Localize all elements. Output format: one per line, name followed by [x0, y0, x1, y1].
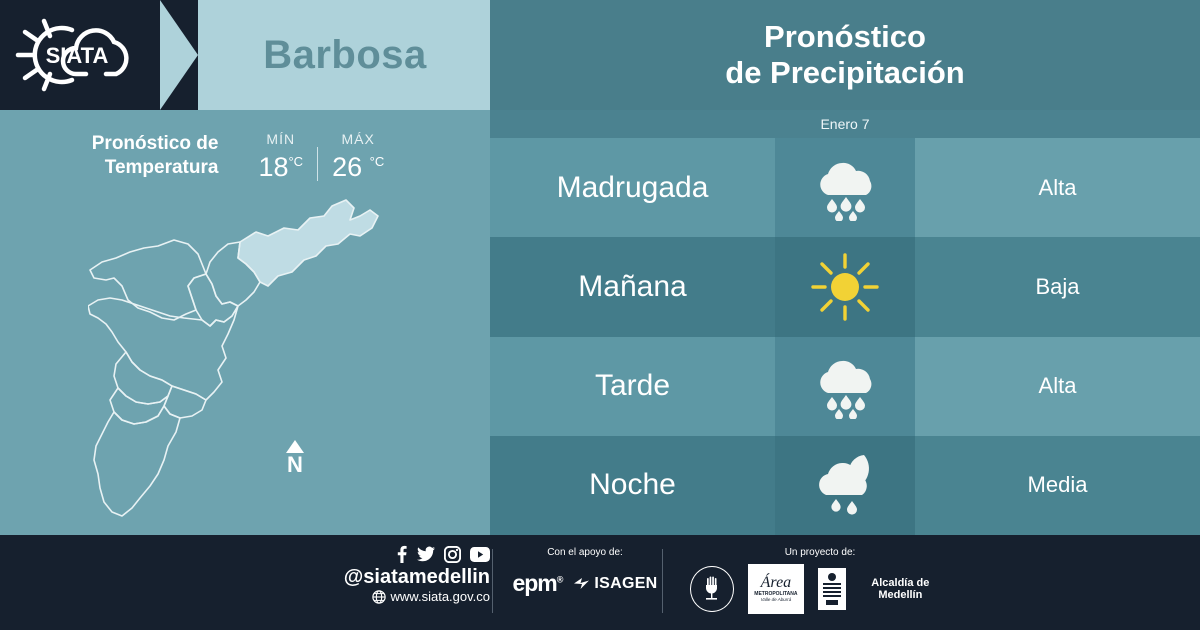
- footer-divider: [662, 549, 663, 613]
- temperature-values: MÍN 18°C MÁX 26 °C: [244, 131, 398, 182]
- forecast-probability-label: Baja: [1035, 274, 1079, 300]
- forecast-title-line1: Pronóstico: [764, 19, 926, 55]
- project-caption: Un proyecto de:: [690, 547, 950, 558]
- forecast-probability-label: Alta: [1039, 373, 1077, 399]
- website-row[interactable]: www.siata.gov.co: [372, 589, 490, 604]
- logo-arrow-shape: [160, 0, 198, 110]
- precipitation-header: Pronóstico de Precipitación: [490, 0, 1200, 110]
- forecast-probability-cell: Baja: [915, 237, 1200, 336]
- temperature-max-value: 26: [332, 152, 362, 182]
- globe-icon: [372, 590, 386, 604]
- forecast-probability-cell: Alta: [915, 337, 1200, 436]
- precipitation-table: Madrugada Alta: [490, 138, 1200, 535]
- instagram-icon[interactable]: [444, 546, 461, 563]
- forecast-period-cell: Mañana: [490, 237, 775, 336]
- area-logo-signature: Área: [761, 575, 792, 591]
- project-block: Un proyecto de:: [690, 547, 950, 614]
- alcaldia-crest: [818, 568, 846, 610]
- rain-cloud-icon: [808, 155, 882, 221]
- rain-cloud-icon: [808, 353, 882, 419]
- forecast-icon-cell: [775, 138, 915, 237]
- map-region-medellin[interactable]: [88, 298, 238, 400]
- forecast-icon-cell: [775, 237, 915, 336]
- aburra-valley-map: [88, 186, 418, 526]
- alcaldia-mark-icon: [818, 568, 846, 610]
- website-url: www.siata.gov.co: [391, 589, 490, 604]
- facebook-icon[interactable]: [394, 545, 408, 563]
- north-arrow-label: N: [287, 454, 303, 476]
- north-arrow: N: [278, 440, 312, 486]
- social-handle[interactable]: @siatamedellin: [344, 565, 490, 589]
- support-caption: Con el apoyo de:: [505, 547, 665, 558]
- map-region-itagui[interactable]: [114, 352, 172, 404]
- social-icons: [394, 545, 490, 563]
- forecast-period-cell: Noche: [490, 436, 775, 535]
- temperature-max-label: MÁX: [341, 131, 374, 147]
- date-band: Enero 7: [490, 110, 1200, 138]
- siata-logo-block: SIATA: [0, 0, 160, 110]
- temperature-block: Pronóstico de Temperatura MÍN 18°C MÁX 2…: [0, 124, 490, 188]
- temperature-max-unit: °C: [370, 154, 385, 169]
- city-title: Barbosa: [200, 0, 490, 110]
- forecast-period-cell: Tarde: [490, 337, 775, 436]
- udea-seal-icon[interactable]: [690, 566, 734, 612]
- area-metropolitana-logo[interactable]: Área METROPOLITANA Valle de Aburrá: [748, 564, 804, 614]
- temperature-min-unit: °C: [288, 154, 303, 169]
- footer-divider: [492, 549, 493, 613]
- alcaldia-label: Alcaldía de Medellín: [851, 577, 950, 601]
- table-row[interactable]: Tarde Alta: [490, 337, 1200, 436]
- temperature-title: Pronóstico de Temperatura: [92, 132, 219, 180]
- forecast-probability-cell: Alta: [915, 138, 1200, 237]
- isagen-logo[interactable]: ISAGEN: [574, 575, 657, 593]
- temperature-title-line2: Temperatura: [92, 156, 219, 180]
- forecast-period-label: Madrugada: [557, 171, 709, 205]
- project-logos: Área METROPOLITANA Valle de Aburrá: [690, 564, 950, 614]
- alcaldia-logo[interactable]: Alcaldía de Medellín: [818, 568, 950, 610]
- twitter-icon[interactable]: [417, 545, 435, 563]
- forecast-icon-cell: [775, 337, 915, 436]
- isagen-label: ISAGEN: [594, 575, 657, 593]
- forecast-period-label: Mañana: [578, 270, 686, 304]
- forecast-icon-cell: [775, 436, 915, 535]
- youtube-icon[interactable]: [470, 547, 490, 562]
- temperature-max-value-wrap: 26 °C: [332, 147, 384, 182]
- map-region-barbosa[interactable]: [238, 200, 378, 286]
- forecast-period-label: Noche: [589, 468, 676, 502]
- footer: @siatamedellin www.siata.gov.co Con el a…: [0, 535, 1200, 630]
- support-logos: epm® ISAGEN: [505, 570, 665, 597]
- sun-icon: [809, 251, 881, 323]
- temperature-min: MÍN 18°C: [244, 131, 317, 182]
- left-panel: Pronóstico de Temperatura MÍN 18°C MÁX 2…: [0, 110, 490, 535]
- map-region-sabaneta[interactable]: [110, 388, 168, 424]
- social-block: @siatamedellin www.siata.gov.co: [300, 545, 490, 604]
- map-svg: [88, 186, 418, 526]
- udea-seal-mark: [695, 572, 729, 606]
- forecast-title-line2: de Precipitación: [725, 55, 964, 91]
- support-block: Con el apoyo de: epm® ISAGEN: [505, 547, 665, 597]
- temperature-max: MÁX 26 °C: [318, 131, 398, 182]
- forecast-date: Enero 7: [820, 116, 869, 132]
- header-left-band: SIATA Barbosa: [0, 0, 490, 110]
- forecast-probability-label: Alta: [1039, 175, 1077, 201]
- area-logo-line2: Valle de Aburrá: [761, 597, 792, 603]
- forecast-probability-cell: Media: [915, 436, 1200, 535]
- forecast-period-cell: Madrugada: [490, 138, 775, 237]
- table-row[interactable]: Madrugada Alta: [490, 138, 1200, 237]
- isagen-mark-icon: [574, 576, 591, 591]
- epm-logo[interactable]: epm®: [512, 570, 562, 597]
- moon-rain-icon: [808, 451, 882, 519]
- infographic-canvas: SIATA Barbosa Pronóstico de Precipitació…: [0, 0, 1200, 630]
- temperature-min-value-wrap: 18°C: [258, 147, 303, 182]
- table-row[interactable]: Mañana Ba: [490, 237, 1200, 336]
- forecast-period-label: Tarde: [595, 369, 670, 403]
- temperature-min-label: MÍN: [266, 131, 295, 147]
- temperature-title-line1: Pronóstico de: [92, 132, 219, 156]
- siata-logo-text: SIATA: [46, 43, 109, 68]
- table-row[interactable]: Noche Media: [490, 436, 1200, 535]
- temperature-min-value: 18: [258, 152, 288, 182]
- map-region-copacabana[interactable]: [188, 274, 238, 326]
- forecast-probability-label: Media: [1028, 472, 1088, 498]
- sun-cloud-icon: SIATA: [14, 14, 144, 96]
- map-region-caldas[interactable]: [94, 406, 180, 516]
